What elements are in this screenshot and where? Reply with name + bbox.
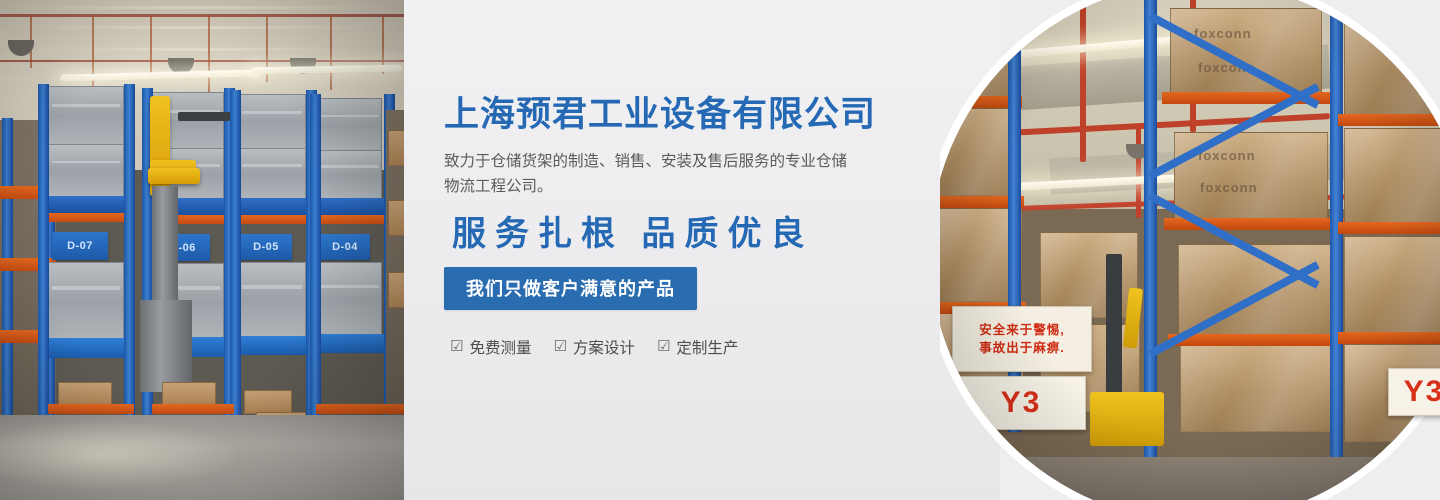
company-subtitle: 致力于仓储货架的制造、销售、安装及售后服务的专业仓储物流工程公司。 bbox=[444, 149, 856, 199]
check-icon: ☑ bbox=[450, 339, 463, 354]
feature-item-custom-production: ☑ 定制生产 bbox=[657, 336, 738, 358]
edge-aisle-marker-sign: Y3 bbox=[1388, 368, 1440, 416]
feature-label: 方案设计 bbox=[573, 336, 635, 358]
feature-label: 定制生产 bbox=[676, 336, 738, 358]
slogan: 服务扎根 品质优良 bbox=[452, 215, 914, 255]
left-warehouse-photo: D-07 D-06 D-05 bbox=[0, 0, 404, 500]
feature-label: 免费测量 bbox=[469, 336, 531, 358]
right-warehouse-photo-wrap: foxconn foxconn foxconn foxconn bbox=[940, 0, 1440, 500]
cta-button[interactable]: 我们只做客户满意的产品 bbox=[444, 267, 697, 310]
right-warehouse-photo: foxconn foxconn foxconn foxconn bbox=[940, 0, 1440, 500]
feature-item-scheme-design: ☑ 方案设计 bbox=[553, 336, 634, 358]
check-icon: ☑ bbox=[553, 339, 566, 354]
check-icon: ☑ bbox=[657, 339, 670, 354]
company-headline: 上海预君工业设备有限公司 bbox=[444, 96, 914, 135]
feature-list: ☑ 免费测量 ☑ 方案设计 ☑ 定制生产 bbox=[450, 336, 914, 358]
photo-vignette bbox=[940, 0, 1440, 500]
copy-stack: 上海预君工业设备有限公司 致力于仓储货架的制造、销售、安装及售后服务的专业仓储物… bbox=[444, 96, 914, 358]
promo-banner: D-07 D-06 D-05 bbox=[0, 0, 1440, 500]
edge-aisle-marker-text: Y3 bbox=[1404, 375, 1440, 409]
center-copy-panel: 上海预君工业设备有限公司 致力于仓储货架的制造、销售、安装及售后服务的专业仓储物… bbox=[404, 0, 1000, 500]
photo-vignette bbox=[0, 0, 404, 500]
feature-item-free-measurement: ☑ 免费测量 bbox=[450, 336, 531, 358]
